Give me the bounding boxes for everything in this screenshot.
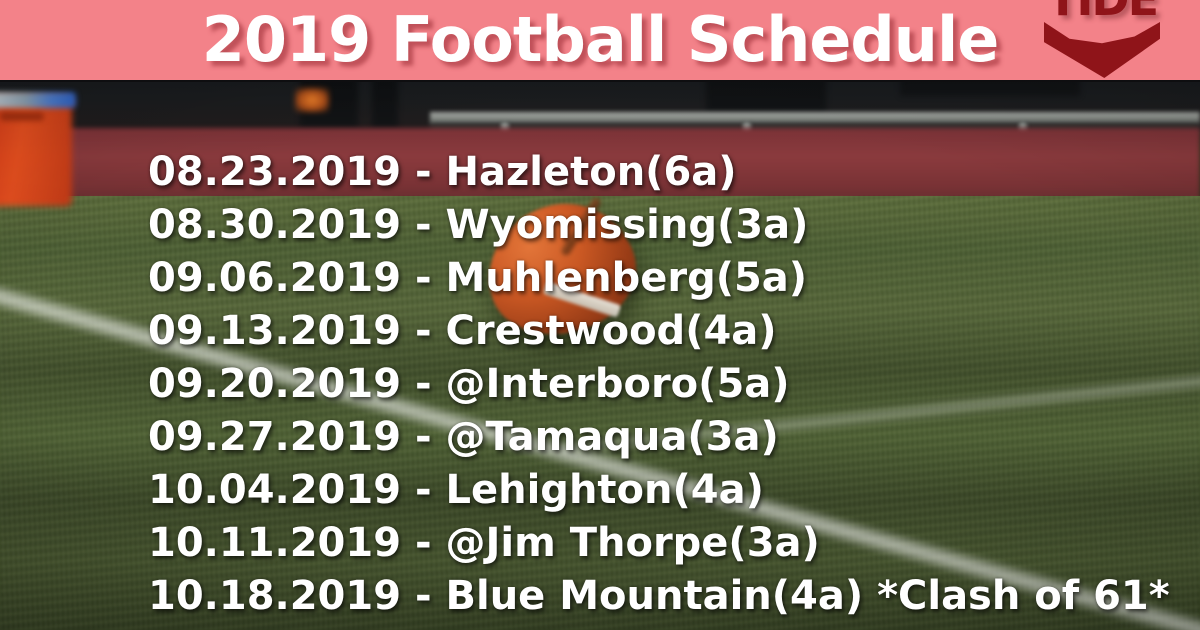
schedule-poster: 2019 Football Schedule TIDE 08.23.2019 -… (0, 0, 1200, 630)
schedule-row: 08.30.2019 - Wyomissing(3a) (148, 199, 1170, 252)
tide-logo: TIDE (1020, 0, 1184, 80)
schedule-list: 08.23.2019 - Hazleton(6a) 08.30.2019 - W… (148, 146, 1170, 623)
schedule-row: 10.04.2019 - Lehighton(4a) (148, 464, 1170, 517)
header-band: 2019 Football Schedule TIDE (0, 0, 1200, 82)
schedule-row: 09.06.2019 - Muhlenberg(5a) (148, 252, 1170, 305)
schedule-row: 10.18.2019 - Blue Mountain(4a) *Clash of… (148, 570, 1170, 623)
schedule-row: 09.27.2019 - @Tamaqua(3a) (148, 411, 1170, 464)
schedule-row: 09.20.2019 - @Interboro(5a) (148, 358, 1170, 411)
tide-wave-icon (1044, 22, 1160, 78)
tide-logo-wordmark: TIDE (1020, 0, 1184, 22)
schedule-row: 10.11.2019 - @Jim Thorpe(3a) (148, 517, 1170, 570)
schedule-row: 08.23.2019 - Hazleton(6a) (148, 146, 1170, 199)
schedule-row: 09.13.2019 - Crestwood(4a) (148, 305, 1170, 358)
